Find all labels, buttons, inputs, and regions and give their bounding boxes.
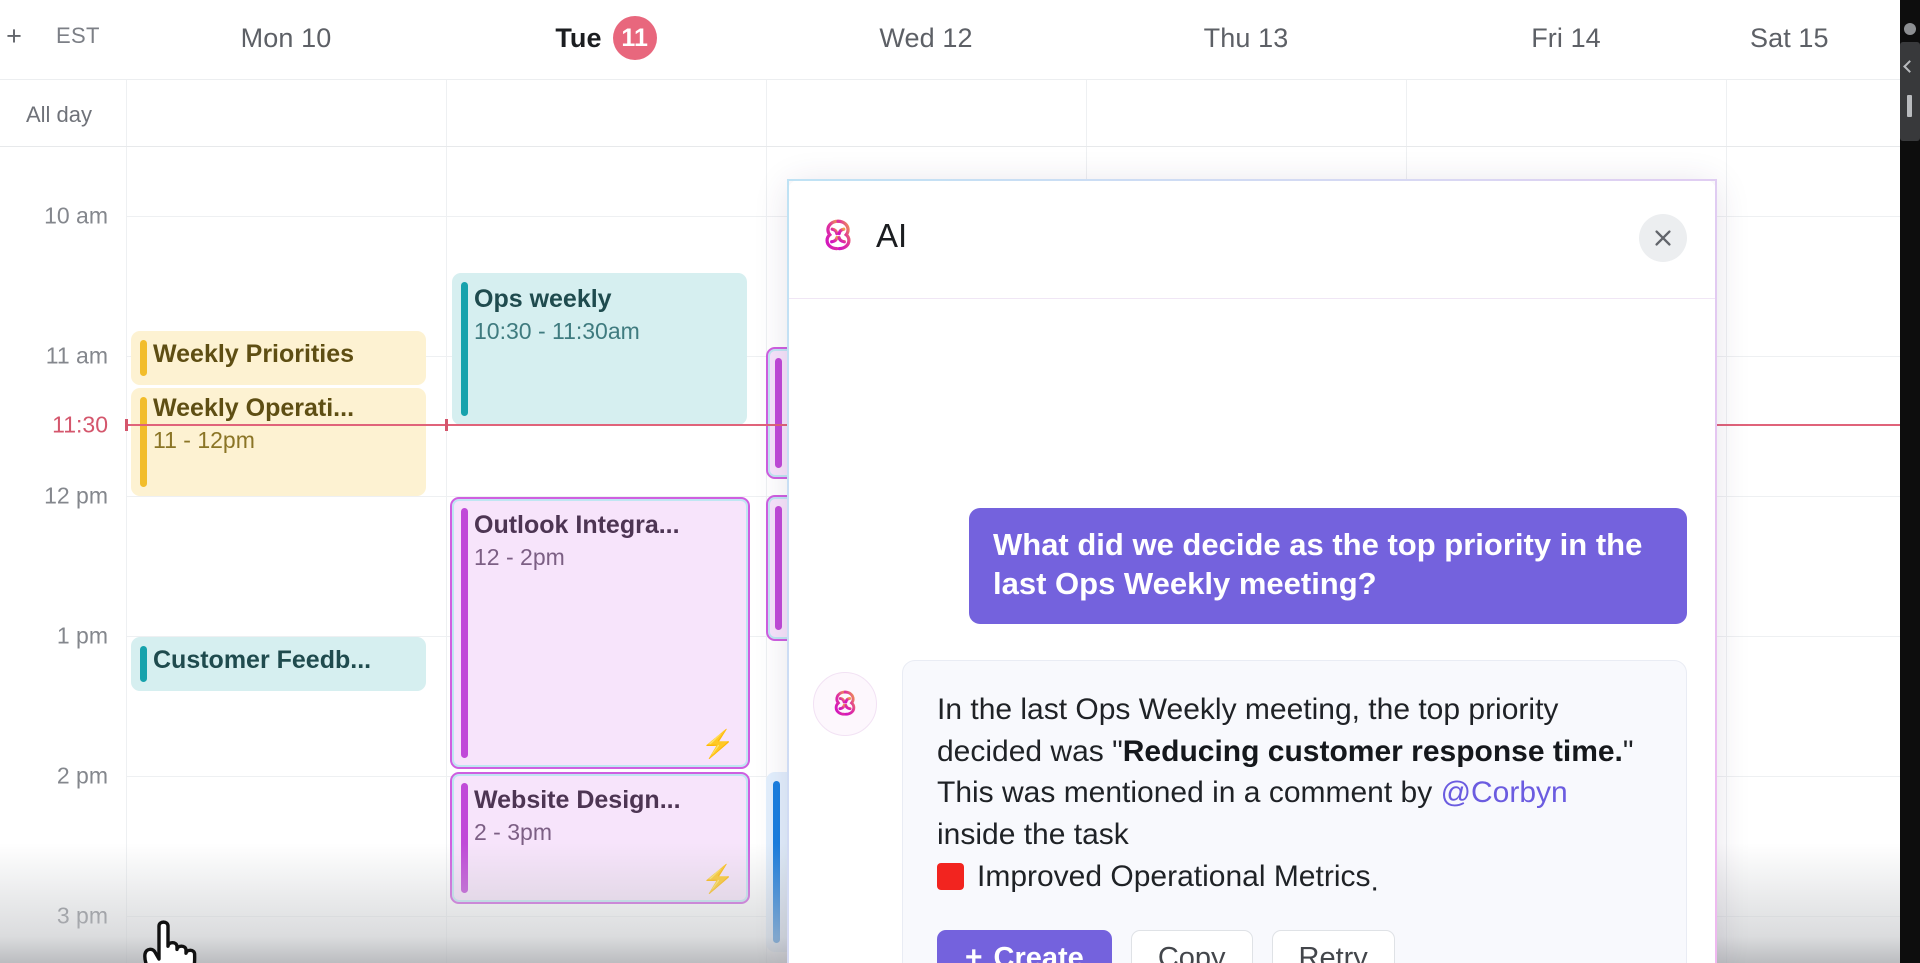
- event-color-bar: [775, 358, 782, 468]
- event-time: 11 - 12pm: [153, 426, 416, 456]
- day-header-weekday: Tue: [555, 23, 601, 54]
- mention-link-corbyn[interactable]: @Corbyn: [1441, 776, 1568, 809]
- current-time-indicator-mon: [126, 424, 446, 426]
- ai-brain-icon: [817, 215, 859, 257]
- event-title: Website Design...: [474, 786, 738, 815]
- event-color-bar: [461, 783, 468, 893]
- close-button[interactable]: [1639, 214, 1687, 262]
- day-header-mon-10[interactable]: Mon 10: [126, 14, 446, 62]
- day-header-label: Fri 14: [1531, 23, 1601, 54]
- ai-panel-title: AI: [876, 217, 907, 255]
- task-reference-chip[interactable]: Improved Operational Metrics: [937, 856, 1371, 898]
- create-button[interactable]: + Create: [937, 930, 1112, 963]
- ai-avatar: [813, 672, 877, 736]
- lightning-icon: ⚡: [701, 866, 735, 893]
- event-color-bar: [140, 340, 147, 376]
- ai-brain-icon: [828, 687, 862, 721]
- scrollbar-thumb[interactable]: [1900, 42, 1920, 141]
- day-header-label: Mon 10: [241, 23, 332, 54]
- timezone-label: EST: [56, 23, 116, 49]
- event-color-bar: [773, 781, 780, 943]
- hour-label: 2 pm: [0, 763, 108, 790]
- event-website-design[interactable]: Website Design... 2 - 3pm ⚡: [450, 772, 750, 904]
- day-header-thu-13[interactable]: Thu 13: [1086, 14, 1406, 62]
- scrollbar-dot-icon: [1904, 23, 1916, 35]
- event-title: Ops weekly: [474, 285, 737, 314]
- plus-icon: +: [965, 943, 983, 963]
- task-status-square-icon: [937, 863, 964, 890]
- event-title: Customer Feedb...: [153, 646, 416, 675]
- ai-response-actions: + Create Copy Retry: [937, 930, 1652, 963]
- day-header-label: Thu 13: [1204, 23, 1289, 54]
- create-button-label: Create: [994, 942, 1084, 963]
- calendar-header: + EST Mon 10 Tue 11 Wed 12 Thu 13 Fri 14…: [0, 0, 1900, 79]
- day-header-sat-15[interactable]: Sat 15: [1726, 14, 1920, 62]
- hour-label: 1 pm: [0, 623, 108, 650]
- event-title: Weekly Operati...: [153, 394, 416, 423]
- current-time-label: 11:30: [0, 412, 108, 439]
- day-header-label: Wed 12: [879, 23, 972, 54]
- response-part-4: .: [1371, 864, 1379, 897]
- day-header-label: Sat 15: [1750, 23, 1829, 54]
- event-ops-weekly[interactable]: Ops weekly 10:30 - 11:30am: [452, 273, 747, 425]
- user-message-bubble: What did we decide as the top priority i…: [969, 508, 1687, 624]
- close-icon: [1652, 227, 1674, 249]
- ai-response-text: In the last Ops Weekly meeting, the top …: [937, 689, 1652, 902]
- event-color-bar: [461, 282, 468, 416]
- event-outlook-integration[interactable]: Outlook Integra... 12 - 2pm ⚡: [450, 497, 750, 769]
- event-title: Outlook Integra...: [474, 511, 738, 540]
- event-weekly-operations[interactable]: Weekly Operati... 11 - 12pm: [131, 388, 426, 496]
- event-color-bar: [140, 397, 147, 487]
- ai-panel-header: AI: [789, 181, 1715, 299]
- calendar-ai-screen: + EST Mon 10 Tue 11 Wed 12 Thu 13 Fri 14…: [0, 0, 1920, 963]
- day-header-wed-12[interactable]: Wed 12: [766, 14, 1086, 62]
- event-title: Weekly Priorities: [153, 340, 416, 369]
- event-customer-feedback[interactable]: Customer Feedb...: [131, 637, 426, 691]
- response-part-3: inside the task: [937, 818, 1129, 851]
- mouse-cursor-pointer: [139, 914, 201, 963]
- today-date-badge: 11: [613, 16, 657, 60]
- event-time: 10:30 - 11:30am: [474, 317, 737, 347]
- day-header-tue-11[interactable]: Tue 11: [446, 14, 766, 62]
- event-color-bar: [461, 508, 468, 758]
- time-gutter: 10 am 11 am 11:30 12 pm 1 pm 2 pm 3 pm: [0, 147, 126, 963]
- event-time: 2 - 3pm: [474, 818, 738, 848]
- event-color-bar: [140, 646, 147, 682]
- event-time: 12 - 2pm: [474, 543, 738, 573]
- ai-assistant-panel: AI What did we decide as the top priorit…: [787, 179, 1717, 963]
- hour-label: 11 am: [0, 343, 108, 370]
- add-event-button[interactable]: +: [0, 22, 28, 50]
- task-name: Improved Operational Metrics: [977, 856, 1371, 898]
- event-weekly-priorities[interactable]: Weekly Priorities: [131, 331, 426, 385]
- all-day-label: All day: [26, 102, 92, 128]
- hour-label: 3 pm: [0, 903, 108, 930]
- response-bold-priority: Reducing customer response time.: [1123, 735, 1623, 768]
- ai-response-bubble: In the last Ops Weekly meeting, the top …: [902, 660, 1687, 963]
- all-day-row: All day: [0, 79, 1900, 147]
- hour-label: 12 pm: [0, 483, 108, 510]
- scrollbar-handle-icon: [1907, 95, 1912, 117]
- day-header-fri-14[interactable]: Fri 14: [1406, 14, 1726, 62]
- system-scrollbar-strip[interactable]: [1900, 0, 1920, 963]
- user-message-text: What did we decide as the top priority i…: [993, 527, 1642, 601]
- retry-button[interactable]: Retry: [1272, 930, 1395, 963]
- ai-conversation: What did we decide as the top priority i…: [789, 299, 1715, 963]
- lightning-icon: ⚡: [701, 731, 735, 758]
- hour-label: 10 am: [0, 203, 108, 230]
- copy-button[interactable]: Copy: [1131, 930, 1253, 963]
- event-color-bar: [775, 506, 782, 630]
